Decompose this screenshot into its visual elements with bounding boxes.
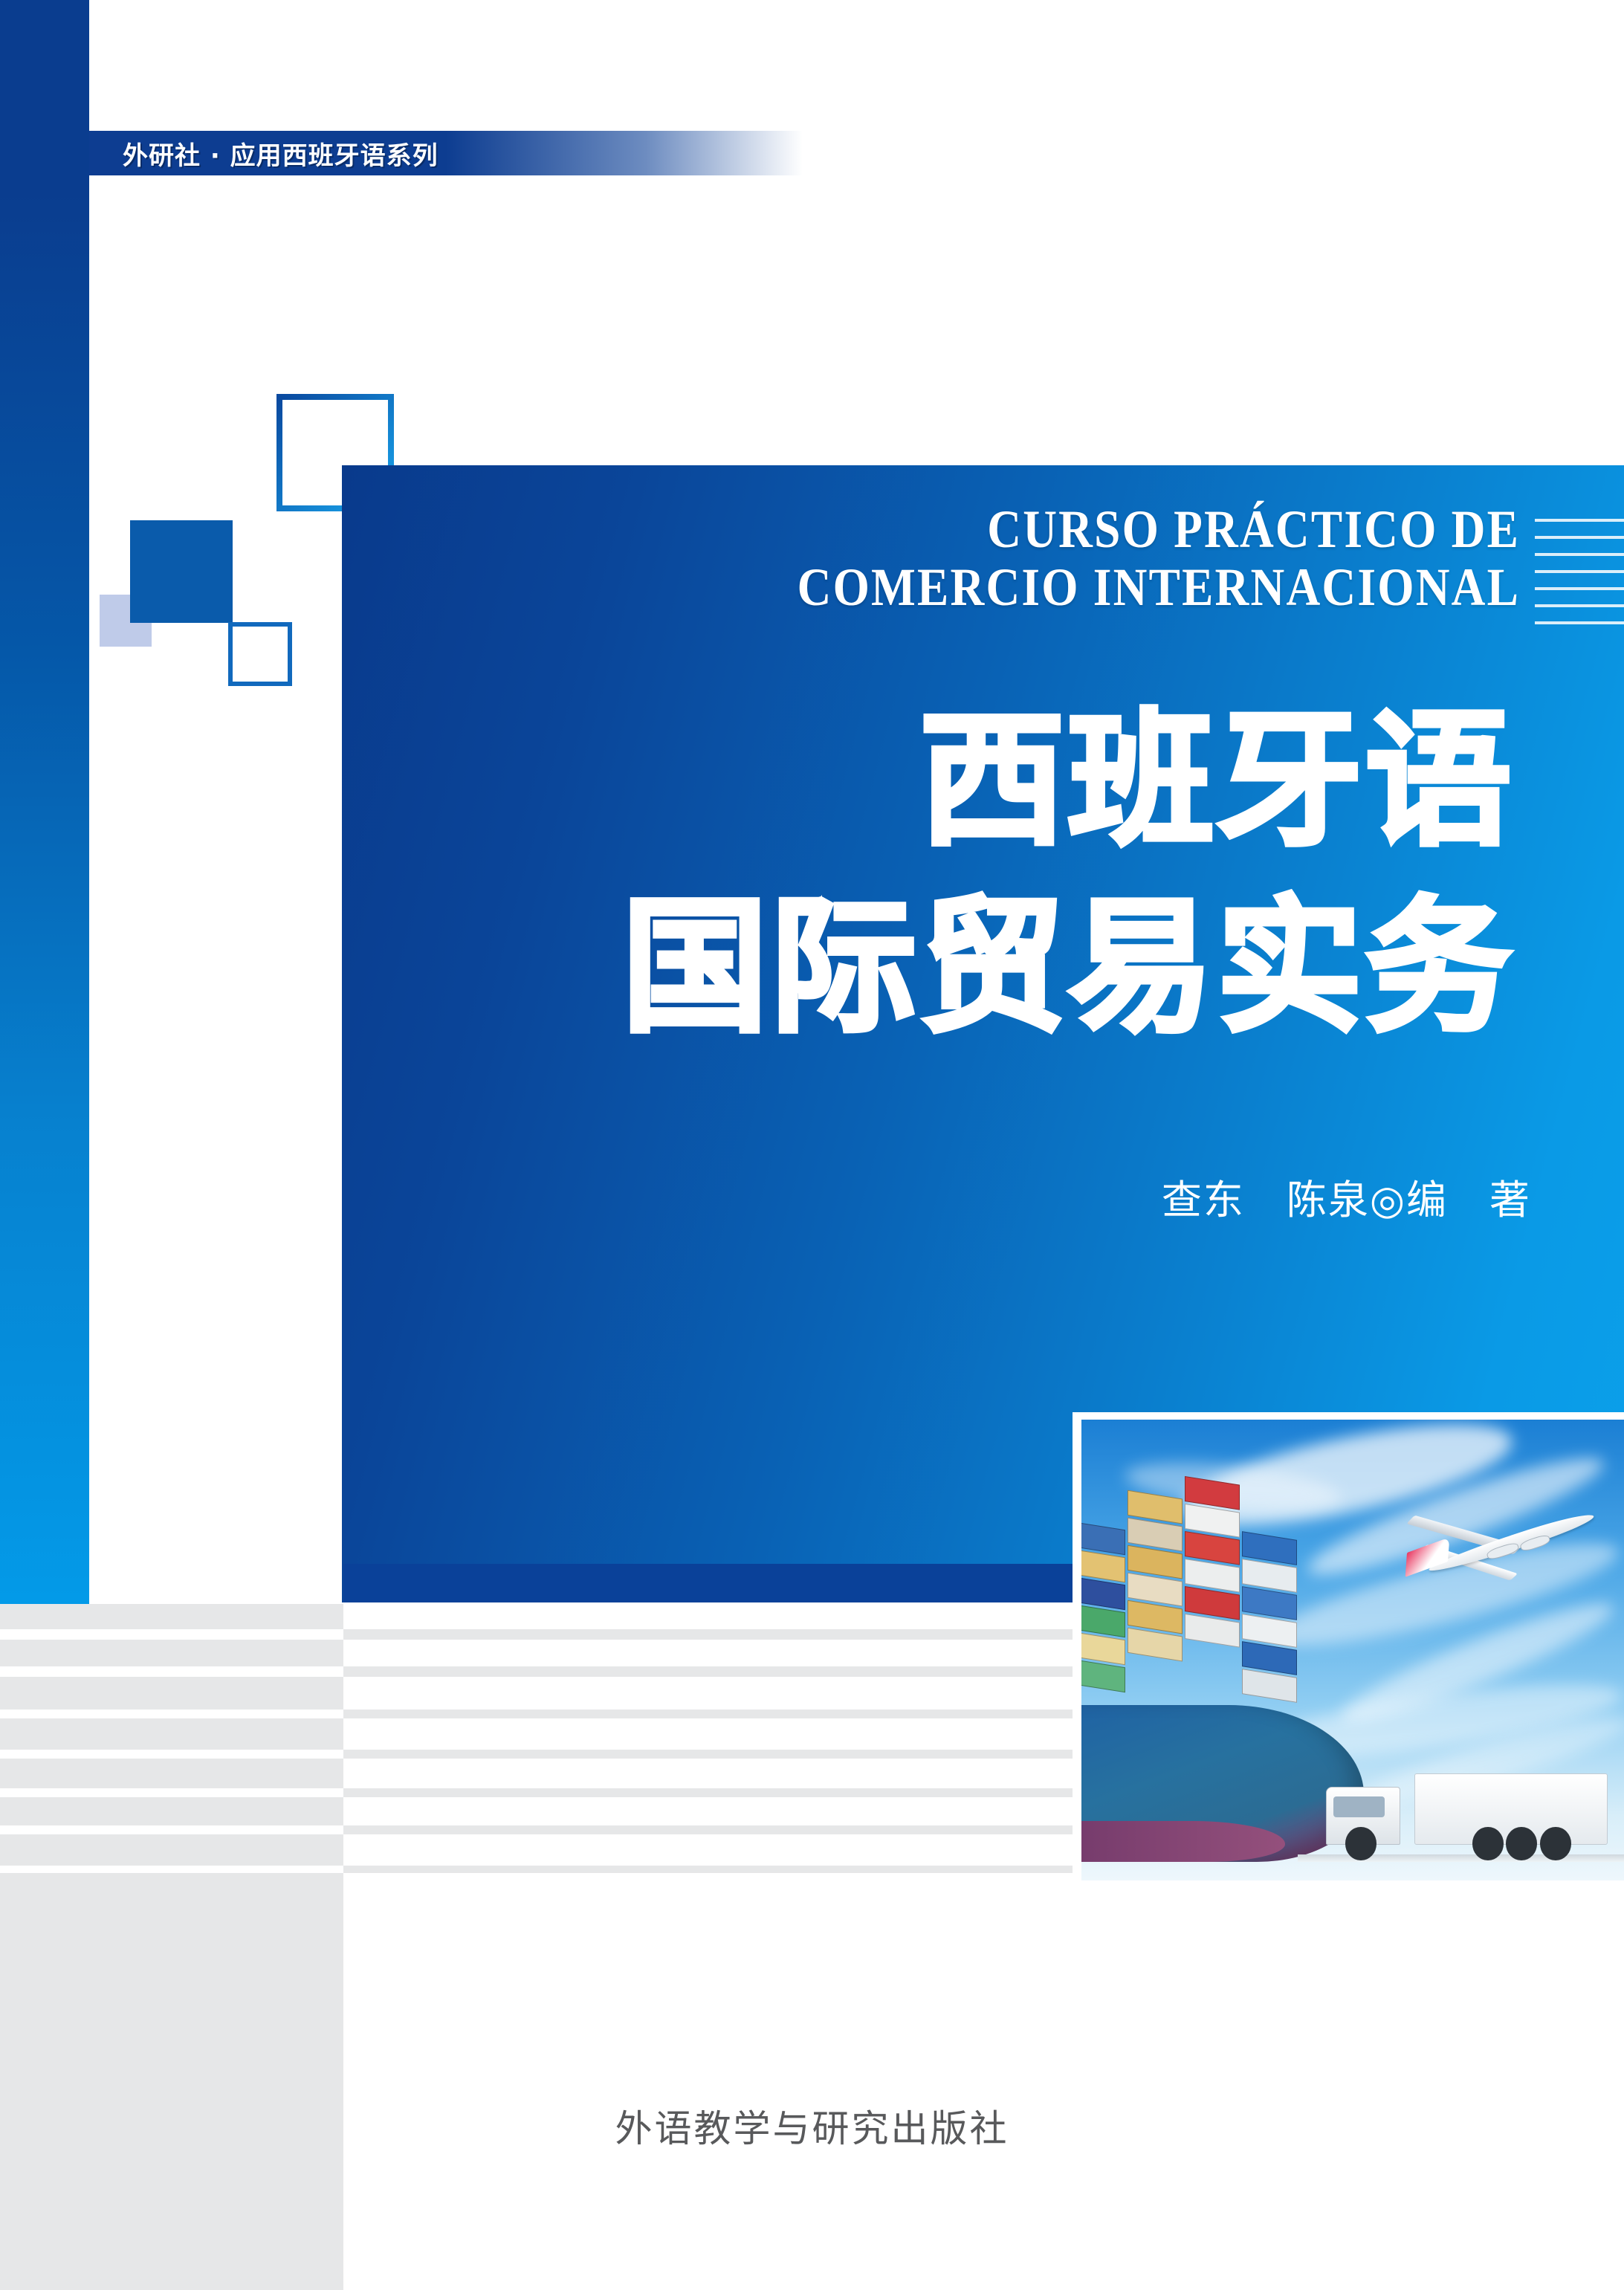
truck-wheel	[1472, 1827, 1504, 1860]
chinese-title-line-1: 西班牙语	[622, 688, 1514, 875]
stripe-segment-left	[0, 1677, 343, 1710]
stripe-row	[0, 1604, 1087, 1629]
stripe-segment-left	[0, 1640, 343, 1666]
publisher-name: 外语教学与研究出版社	[0, 2099, 1624, 2152]
stripe-row	[0, 1866, 1087, 1873]
stripe-segment-right	[343, 1604, 1087, 1629]
stripe-segment-right	[343, 1834, 1087, 1866]
cover-photo-frame	[1073, 1412, 1624, 1880]
outline-square-small-decor	[228, 622, 292, 686]
stripe-segment-right	[343, 1797, 1087, 1825]
stripe-segment-left	[0, 1666, 343, 1677]
truck-wheel	[1345, 1827, 1376, 1860]
chinese-title-line-2: 国际贸易实务	[622, 875, 1514, 1061]
stripe-segment-left	[0, 1866, 343, 1873]
stripe-segment-right	[343, 1666, 1087, 1677]
stripe-segment-left	[0, 1750, 343, 1759]
rule-line-1	[1535, 519, 1624, 522]
stripe-row	[0, 1629, 1087, 1640]
stripe-segment-right	[343, 1750, 1087, 1759]
stripe-row	[0, 1666, 1087, 1677]
stripe-segment-right	[343, 1866, 1087, 1873]
bottom-navy-band	[343, 1564, 1087, 1602]
truck-wheel	[1506, 1827, 1537, 1860]
stripe-segment-left	[0, 1718, 343, 1750]
shipping-container	[1081, 1521, 1125, 1556]
chinese-title: 西班牙语 国际贸易实务	[622, 688, 1514, 1061]
stripe-row	[0, 1788, 1087, 1797]
truck-wheel	[1540, 1827, 1571, 1860]
spanish-title-line-2: COMERCIO INTERNACIONAL	[798, 559, 1520, 617]
stripe-segment-left	[0, 1759, 343, 1788]
logistics-photo	[1081, 1420, 1624, 1880]
rule-line-3	[1535, 553, 1624, 556]
stripe-segment-right	[343, 1759, 1087, 1788]
stripe-segment-right	[343, 1825, 1087, 1834]
stripe-segment-left	[0, 1629, 343, 1640]
stripe-segment-left	[0, 1797, 343, 1825]
decorative-rules	[1535, 519, 1624, 638]
rule-line-2	[1535, 536, 1624, 539]
container-ship-hull	[1081, 1705, 1364, 1862]
stripe-segment-right	[343, 1640, 1087, 1666]
stripe-segment-left	[0, 1604, 343, 1629]
rule-line-7	[1535, 621, 1624, 624]
spanish-title-line-1: CURSO PRÁCTICO DE	[798, 501, 1520, 559]
stripe-segment-right	[343, 1677, 1087, 1710]
stripe-row	[0, 1759, 1087, 1788]
stripe-row	[0, 1710, 1087, 1718]
author-byline: 查东 陈泉◎编 著	[1162, 1167, 1531, 1226]
stripe-segment-left	[0, 1788, 343, 1797]
bottom-stripe-pattern	[0, 1604, 1087, 1901]
stripe-row	[0, 1640, 1087, 1666]
stripe-segment-left	[0, 1710, 343, 1718]
series-banner-label: 外研社 · 应用西班牙语系列	[123, 135, 439, 172]
road-surface	[1298, 1854, 1624, 1862]
stripe-row	[0, 1834, 1087, 1866]
rule-line-6	[1535, 604, 1624, 607]
stripe-segment-right	[343, 1788, 1087, 1797]
stripe-segment-right	[343, 1873, 1087, 1931]
book-cover: 外研社 · 应用西班牙语系列 CURSO PRÁCTICO DE COMERCI…	[0, 0, 1624, 2290]
stripe-row	[0, 1797, 1087, 1825]
cargo-truck-icon	[1326, 1765, 1608, 1862]
left-accent-bar	[0, 0, 89, 1604]
stripe-segment-left	[0, 1825, 343, 1834]
stripe-segment-left	[0, 1834, 343, 1866]
rule-line-4	[1535, 570, 1624, 573]
stripe-row	[0, 1825, 1087, 1834]
stripe-segment-left	[0, 1873, 343, 1931]
stripe-segment-right	[343, 1710, 1087, 1718]
stripe-row	[0, 1677, 1087, 1710]
airplane-icon	[1396, 1493, 1602, 1594]
airplane-tail	[1405, 1537, 1449, 1577]
stripe-segment-right	[343, 1718, 1087, 1750]
spanish-title: CURSO PRÁCTICO DE COMERCIO INTERNACIONAL	[798, 501, 1520, 617]
stripe-row	[0, 1750, 1087, 1759]
stripe-row	[0, 1718, 1087, 1750]
stripe-row	[0, 1873, 1087, 1931]
solid-square-decor	[130, 520, 233, 623]
stripe-segment-right	[343, 1629, 1087, 1640]
rule-line-5	[1535, 587, 1624, 590]
